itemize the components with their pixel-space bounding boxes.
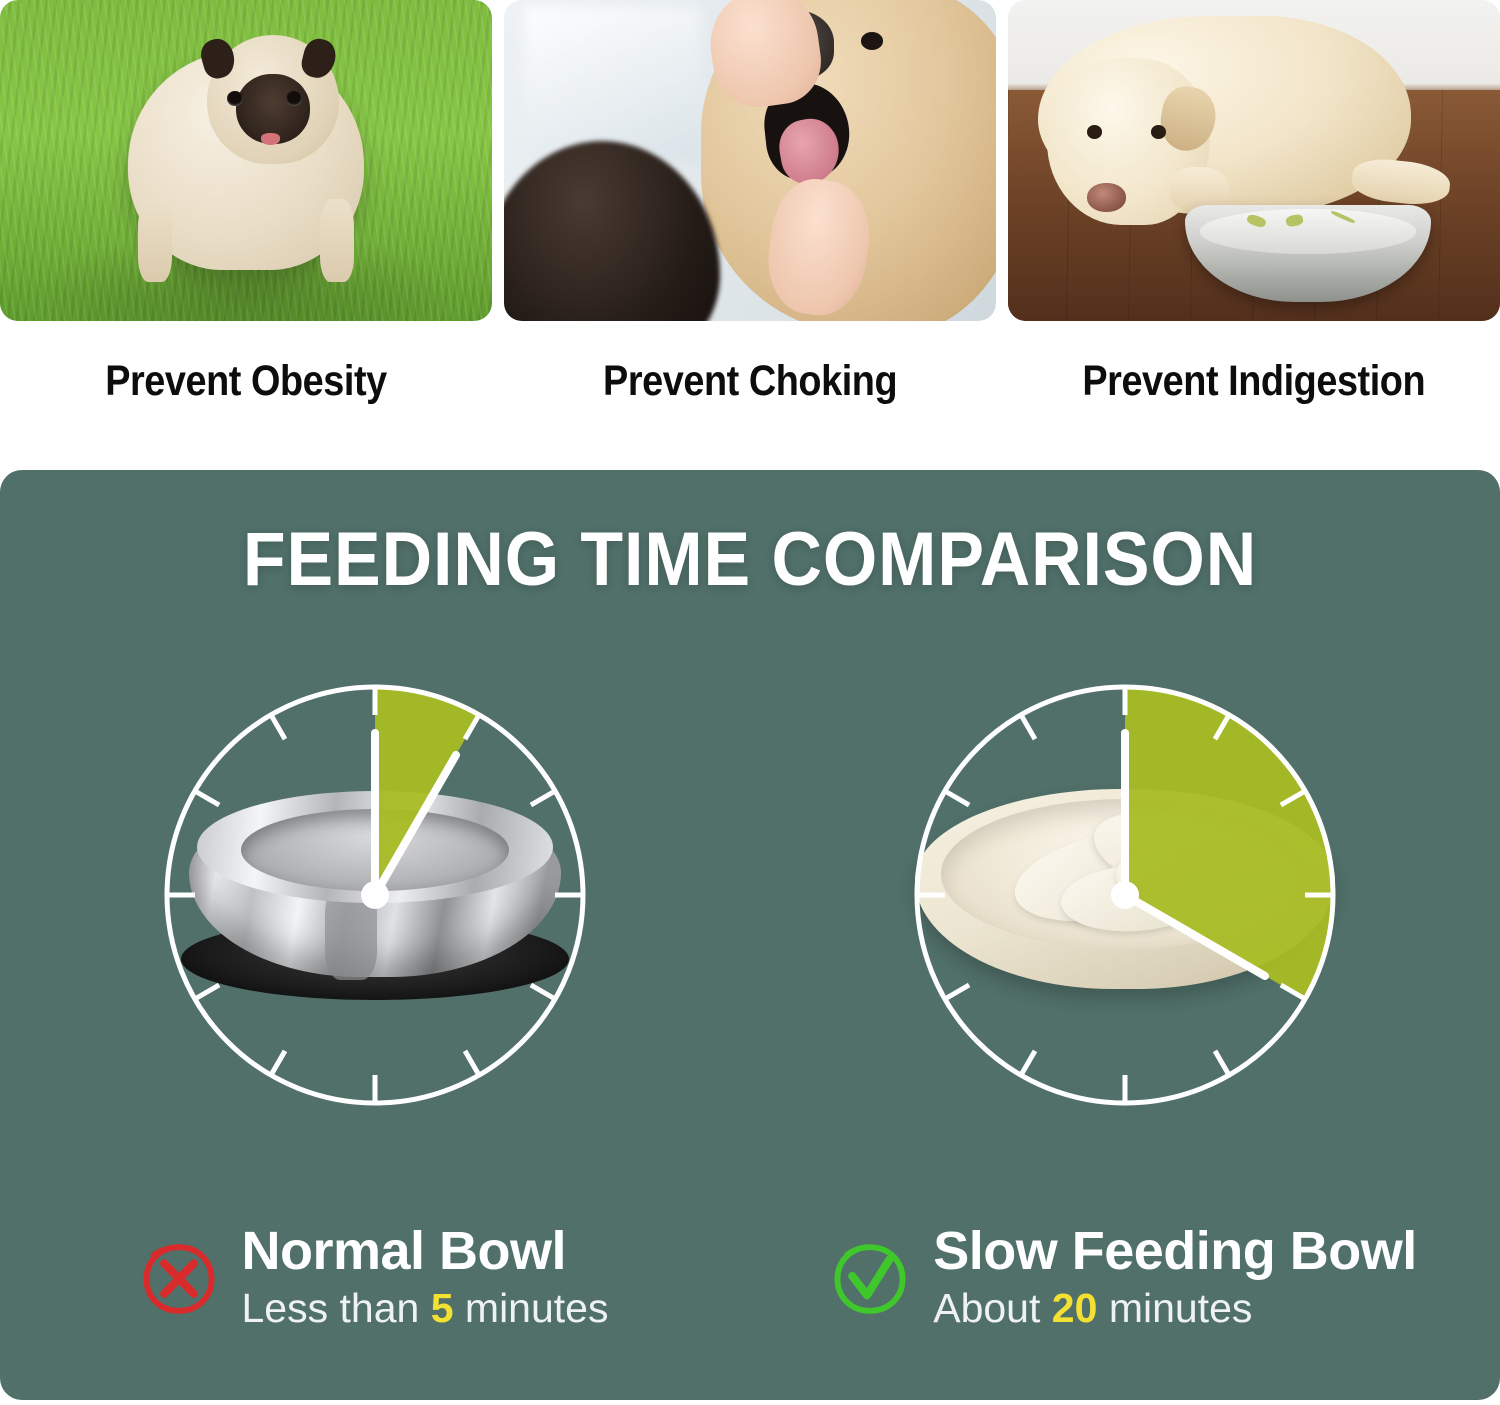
photo-dog-choking-check bbox=[504, 0, 996, 321]
dial-overlay-normal bbox=[150, 670, 600, 1120]
benefit-card-indigestion: Prevent Indigestion bbox=[1008, 0, 1500, 440]
clock-hub bbox=[1111, 881, 1139, 909]
label-sub-prefix-normal: Less than bbox=[242, 1285, 420, 1331]
background-blur-panel bbox=[524, 6, 701, 160]
label-sub-value-slow: 20 bbox=[1052, 1285, 1098, 1331]
benefit-caption-indigestion: Prevent Indigestion bbox=[1083, 357, 1426, 406]
benefit-card-obesity: Prevent Obesity bbox=[0, 0, 492, 440]
label-text-slow: Slow Feeding Bowl About 20 minutes bbox=[933, 1224, 1417, 1334]
label-slow-bowl: Slow Feeding Bowl About 20 minutes bbox=[750, 1224, 1500, 1334]
label-normal-bowl: Normal Bowl Less than 5 minutes bbox=[0, 1224, 750, 1334]
label-sub-suffix-slow: minutes bbox=[1109, 1285, 1253, 1331]
label-sub-slow: About 20 minutes bbox=[933, 1283, 1417, 1334]
clock-hub bbox=[361, 881, 389, 909]
pug-front-leg-right bbox=[320, 199, 354, 282]
dog-eye bbox=[861, 32, 883, 50]
comparison-labels-row: Normal Bowl Less than 5 minutes Slow Fee… bbox=[0, 1224, 1500, 1334]
person-head-foreground bbox=[504, 141, 720, 321]
dial-overlay-slow bbox=[900, 670, 1350, 1120]
label-title-normal: Normal Bowl bbox=[242, 1224, 609, 1279]
photo-overweight-pug bbox=[0, 0, 492, 321]
cross-icon bbox=[142, 1242, 216, 1316]
check-icon bbox=[833, 1242, 907, 1316]
comparison-column-slow-bowl bbox=[750, 670, 1500, 1140]
pug-tongue bbox=[261, 133, 281, 145]
benefits-strip: Prevent Obesity Prevent Choking bbox=[0, 0, 1500, 440]
benefit-card-choking: Prevent Choking bbox=[504, 0, 996, 440]
label-title-slow: Slow Feeding Bowl bbox=[933, 1224, 1417, 1279]
food-piece bbox=[1330, 210, 1355, 224]
benefit-caption-obesity: Prevent Obesity bbox=[105, 357, 387, 406]
food-piece bbox=[1286, 213, 1305, 227]
food-piece bbox=[1246, 214, 1268, 229]
benefit-caption-choking: Prevent Choking bbox=[603, 357, 897, 406]
comparison-column-normal-bowl bbox=[0, 670, 750, 1140]
label-sub-suffix-normal: minutes bbox=[465, 1285, 609, 1331]
label-sub-value-normal: 5 bbox=[431, 1285, 454, 1331]
label-text-normal: Normal Bowl Less than 5 minutes bbox=[242, 1224, 609, 1334]
clock-dial-normal-bowl bbox=[150, 670, 600, 1120]
clock-dial-slow-bowl bbox=[900, 670, 1350, 1120]
bowl-interior bbox=[1200, 209, 1416, 253]
label-sub-prefix-slow: About bbox=[933, 1285, 1040, 1331]
clock-comparison-row bbox=[0, 670, 1500, 1140]
panel-title: FEEDING TIME COMPARISON bbox=[60, 516, 1440, 603]
labrador-nose bbox=[1087, 183, 1126, 212]
label-sub-normal: Less than 5 minutes bbox=[242, 1283, 609, 1334]
product-infographic: Prevent Obesity Prevent Choking bbox=[0, 0, 1500, 1405]
feeding-time-comparison-panel: FEEDING TIME COMPARISON bbox=[0, 470, 1500, 1400]
photo-labrador-with-bowl bbox=[1008, 0, 1500, 321]
pug-front-leg-left bbox=[138, 199, 172, 282]
